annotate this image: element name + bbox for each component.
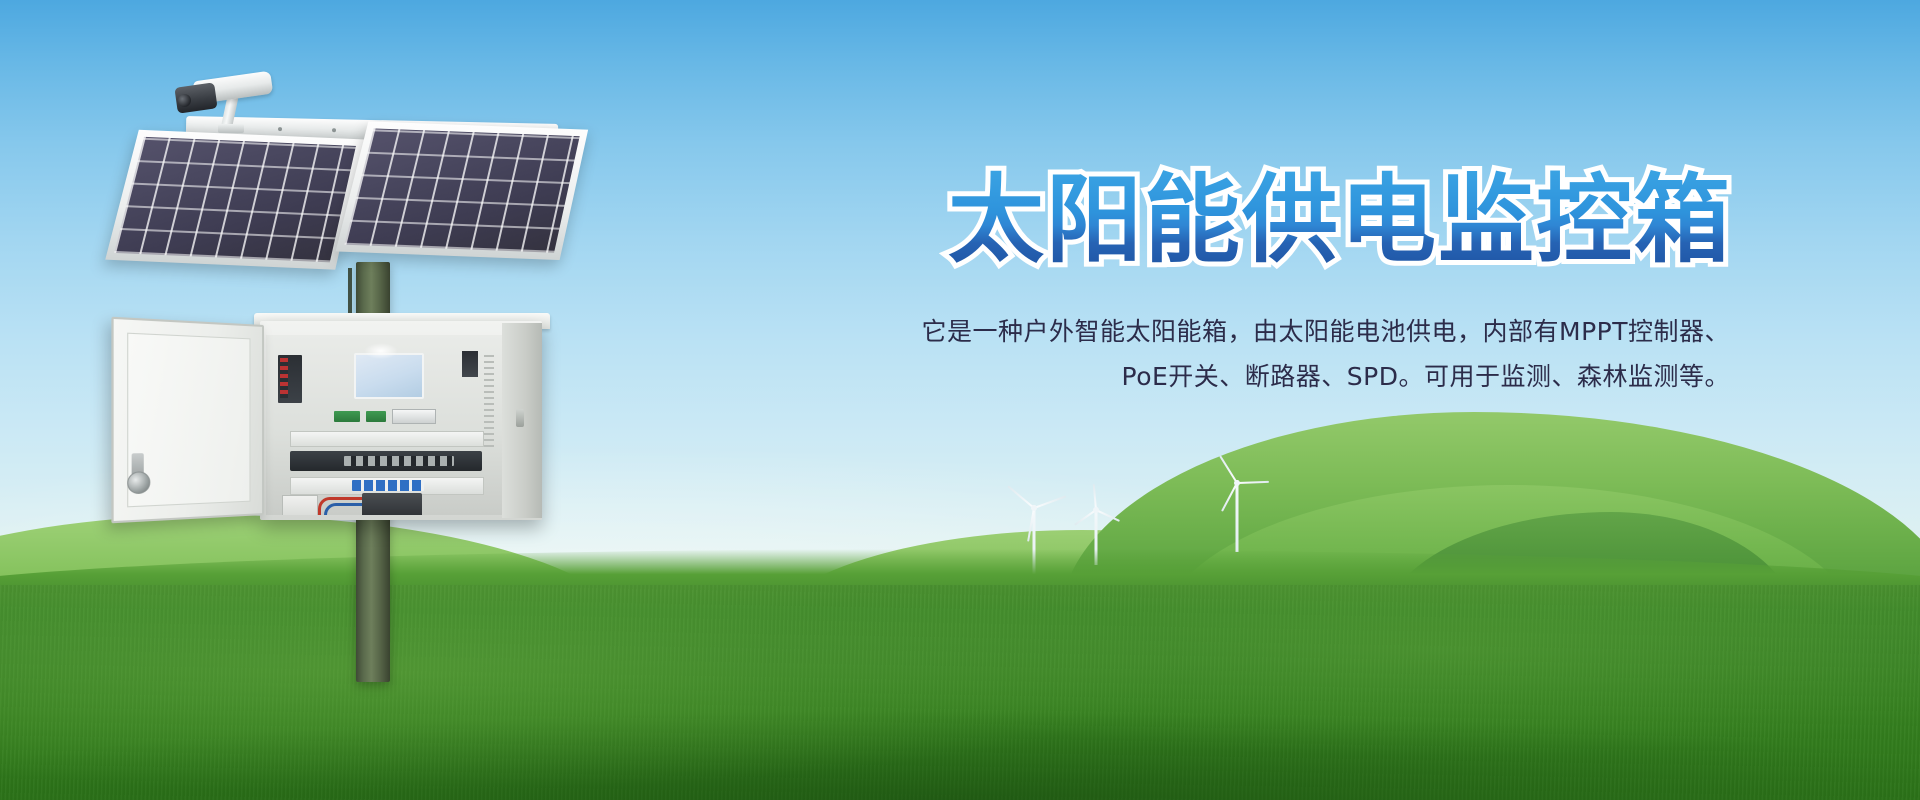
banner-copy: 太阳能供电监控箱 太阳能供电监控箱 它是一种户外智能太阳能箱，由太阳能电池供电，… bbox=[640, 170, 1820, 399]
circuit-breaker bbox=[282, 495, 318, 515]
solar-panel-right bbox=[336, 121, 589, 260]
turbine-blade bbox=[1096, 509, 1120, 522]
camera-base bbox=[218, 124, 244, 133]
din-rail-upper bbox=[290, 431, 484, 447]
solar-cells bbox=[114, 137, 356, 263]
page-title: 太阳能供电监控箱 bbox=[640, 170, 1820, 271]
vent-slots bbox=[484, 355, 494, 451]
wind-turbine bbox=[1205, 480, 1269, 552]
solar-cells bbox=[344, 128, 579, 252]
blue-wire bbox=[324, 503, 367, 515]
turbine-hub bbox=[1234, 480, 1240, 486]
green-connector-b bbox=[366, 411, 386, 422]
cabinet-handle bbox=[516, 409, 524, 427]
interior-light-glow bbox=[364, 343, 398, 359]
product-hero-banner: 太阳能供电监控箱 太阳能供电监控箱 它是一种户外智能太阳能箱，由太阳能电池供电，… bbox=[0, 0, 1920, 800]
turbine-hub bbox=[1093, 507, 1099, 513]
terminal-block-left bbox=[278, 355, 302, 403]
subtitle-line-1: 它是一种户外智能太阳能箱，由太阳能电池供电，内部有MPPT控制器、 bbox=[640, 310, 1730, 355]
spd-modules bbox=[352, 480, 424, 491]
turbine-blade bbox=[1237, 481, 1269, 484]
cabinet-door bbox=[111, 317, 264, 524]
ethernet-ports bbox=[344, 456, 454, 466]
foreground-meadow bbox=[0, 585, 1920, 800]
turbine-hub bbox=[1031, 505, 1037, 511]
headline-wrap: 太阳能供电监控箱 太阳能供电监控箱 bbox=[640, 170, 1820, 274]
wire-harness-connector bbox=[392, 409, 436, 424]
page-subtitle: 它是一种户外智能太阳能箱，由太阳能电池供电，内部有MPPT控制器、 PoE开关、… bbox=[640, 310, 1820, 399]
cabinet-interior bbox=[266, 335, 502, 515]
battery-unit bbox=[362, 493, 422, 515]
mppt-controller-display bbox=[354, 353, 424, 399]
subtitle-line-2: PoE开关、断路器、SPD。可用于监测、森林监测等。 bbox=[640, 355, 1730, 400]
solar-panel-left bbox=[105, 130, 364, 270]
poe-switch bbox=[290, 451, 482, 471]
turbine-mast bbox=[1236, 480, 1239, 552]
green-connector-a bbox=[334, 411, 360, 422]
terminal-block-right bbox=[462, 351, 478, 377]
